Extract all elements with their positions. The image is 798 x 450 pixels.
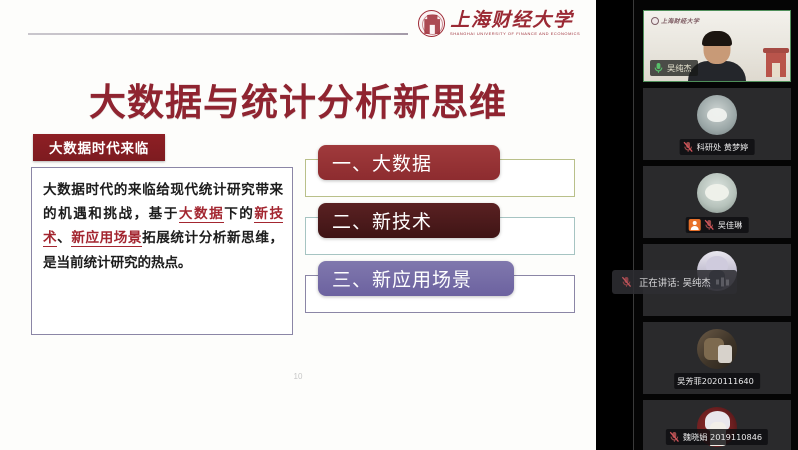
mic-muted-icon [669,431,680,443]
university-seal-icon [418,10,445,37]
participant-name: 科研处 黄梦婷 [697,141,749,153]
participant-tile[interactable]: 吴芳菲2020111640 [643,322,791,394]
agenda-label: 三、新应用场景 [318,261,514,296]
meeting-screen-share-view: 上海财经大学 SHANGHAI UNIVERSITY OF FINANCE AN… [0,0,798,450]
section-badge: 大数据时代来临 [33,134,165,161]
participant-nameplate: 吴纯杰 [650,60,698,76]
cat-avatar-icon [697,329,737,369]
audio-wave-icon [716,278,729,287]
background-gate-decoration [766,51,786,77]
participant-tile[interactable]: 科研处 黄梦婷 [643,88,791,160]
participant-nameplate: 吴佳琳 [686,217,749,233]
participant-panel: 上海财经大学 吴纯杰 [596,0,798,450]
participant-name: 魏晓娟 2019110846 [683,431,762,443]
background-university-logo: 上海财经大学 [651,16,699,25]
participant-nameplate: 科研处 黄梦婷 [680,139,755,155]
highlight-new-scenarios: 新应用场景 [71,230,142,247]
agenda-label: 一、大数据 [318,145,500,180]
dog-avatar-icon [697,95,737,135]
header-divider-rule [28,33,408,35]
host-badge-icon [689,219,701,231]
mic-on-icon [653,62,664,74]
participant-nameplate: 魏晓娟 2019110846 [666,429,768,445]
participant-tile[interactable]: 魏晓娟 2019110846 [643,400,791,450]
participant-name: 吴佳琳 [718,219,743,231]
agenda-label: 二、新技术 [318,203,500,238]
university-name-cn: 上海财经大学 [450,11,578,30]
participant-name: 吴纯杰 [667,62,692,74]
body-text: 大数据时代的来临给现代统计研究带来的机遇和挑战，基于大数据下的新技术、新应用场景… [32,168,292,275]
seal-avatar-icon [697,173,737,213]
body-part-3: 、 [57,230,71,246]
active-speaker-toast: 正在讲话: 吴纯杰 [612,270,737,294]
participant-tile[interactable]: 上海财经大学 吴纯杰 [643,10,791,82]
active-speaker-text: 正在讲话: 吴纯杰 [639,275,711,289]
agenda-item-3: 三、新应用场景 [300,261,590,319]
participant-tile[interactable]: 吴佳琳 [643,166,791,238]
participant-nameplate: 吴芳菲2020111640 [674,373,760,389]
participant-tiles[interactable]: 上海财经大学 吴纯杰 [638,0,798,450]
page-title: 大数据与统计分析新思维 [0,72,596,126]
panel-gutter [596,0,634,450]
university-name-en: SHANGHAI UNIVERSITY OF FINANCE AND ECONO… [450,32,580,36]
agenda-item-2: 二、新技术 [300,203,590,261]
participant-name: 吴芳菲2020111640 [677,375,754,387]
body-text-box: 大数据时代的来临给现代统计研究带来的机遇和挑战，基于大数据下的新技术、新应用场景… [31,167,293,335]
shared-slide[interactable]: 上海财经大学 SHANGHAI UNIVERSITY OF FINANCE AN… [0,0,596,450]
body-part-2: 下的 [224,206,254,222]
slide-header: 上海财经大学 SHANGHAI UNIVERSITY OF FINANCE AN… [0,0,596,64]
agenda-list: 一、大数据 二、新技术 三、新应用场景 [300,145,590,319]
agenda-item-1: 一、大数据 [300,145,590,203]
slide-page-number: 10 [0,372,596,381]
university-logo: 上海财经大学 SHANGHAI UNIVERSITY OF FINANCE AN… [418,10,578,37]
university-name-cn: 上海财经大学 [661,16,699,25]
mic-muted-icon [704,219,715,231]
university-seal-icon [651,17,659,25]
mic-muted-icon [683,141,694,153]
highlight-big-data: 大数据 [179,206,224,223]
mic-muted-icon [621,276,632,288]
